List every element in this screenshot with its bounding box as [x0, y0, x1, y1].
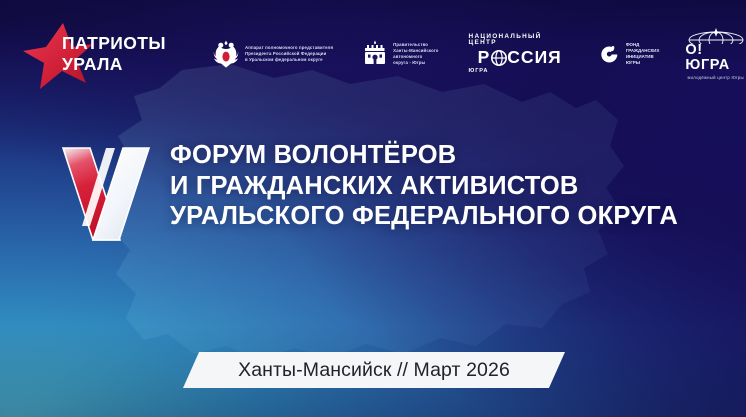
headline-block: ФОРУМ ВОЛОНТЁРОВ И ГРАЖДАНСКИХ АКТИВИСТО… [60, 140, 678, 244]
national-centre-word-left: Р [478, 49, 491, 67]
ugra-gov-caption-line-4: округа - Югры [393, 60, 438, 66]
national-centre-word-right: ССИЯ [507, 49, 561, 67]
o-yugra-logo: О!ЮГРА молодёжный центр Югры [685, 28, 746, 80]
patriots-line-1: ПАТРИОТЫ [62, 33, 166, 54]
event-location-date-ribbon: Ханты-Мансийск // Март 2026 [183, 352, 565, 388]
headline-line-3: УРАЛЬСКОГО ФЕДЕРАЛЬНОГО ОКРУГА [170, 201, 678, 232]
o-yugra-wordmark: О!ЮГРА [685, 43, 746, 73]
patriots-line-2: УРАЛА [62, 54, 166, 75]
national-centre-bottom-label: ЮГРА [469, 69, 489, 75]
event-location-date-text: Ханты-Мансийск // Март 2026 [238, 359, 510, 382]
presidential-envoy-logo: Аппарат полномочного представителя Прези… [213, 39, 333, 69]
national-centre-wordmark: Р ССИЯ [478, 49, 562, 67]
russian-double-headed-eagle-icon [213, 39, 239, 69]
civic-initiatives-fund-caption: ФОНД ГРАЖДАНСКИХ ИНИЦИАТИВ ЮГРЫ [626, 42, 660, 66]
patriots-of-urals-logo: ПАТРИОТЫ УРАЛА [22, 17, 181, 91]
khanty-mansi-government-caption: Правительство Ханты-Мансийского автономн… [393, 42, 438, 66]
partner-logo-bar: ПАТРИОТЫ УРАЛА Аппарат полномочного пред… [0, 0, 746, 108]
o-yugra-subtitle: молодёжный центр Югры [688, 75, 744, 80]
fond-caption-line-4: ЮГРЫ [626, 60, 660, 66]
patriots-of-urals-label: ПАТРИОТЫ УРАЛА [62, 33, 166, 75]
headline-line-1: ФОРУМ ВОЛОНТЁРОВ [170, 140, 678, 171]
khanty-mansi-government-logo: Правительство Ханты-Мансийского автономн… [363, 40, 438, 68]
headline-text: ФОРУМ ВОЛОНТЁРОВ И ГРАЖДАНСКИХ АКТИВИСТО… [170, 140, 678, 232]
presidential-envoy-caption: Аппарат полномочного представителя Прези… [245, 45, 333, 63]
civic-initiatives-fund-logo: ФОНД ГРАЖДАНСКИХ ИНИЦИАТИВ ЮГРЫ [599, 42, 660, 66]
envoy-caption-line-3: в Уральском федеральном округе [245, 57, 333, 63]
civic-initiatives-fund-icon [599, 44, 620, 65]
headline-line-2: И ГРАЖДАНСКИХ АКТИВИСТОВ [170, 171, 678, 202]
national-centre-top-label: НАЦИОНАЛЬНЫЙ ЦЕНТР [469, 34, 571, 47]
event-poster: ПАТРИОТЫ УРАЛА Аппарат полномочного пред… [0, 0, 746, 417]
national-centre-russia-logo: НАЦИОНАЛЬНЫЙ ЦЕНТР Р ССИЯ ЮГРА [469, 34, 571, 74]
globe-icon [491, 50, 507, 66]
v-tricolor-icon [60, 144, 152, 244]
khanty-mansi-coat-of-arms-icon [363, 40, 387, 68]
